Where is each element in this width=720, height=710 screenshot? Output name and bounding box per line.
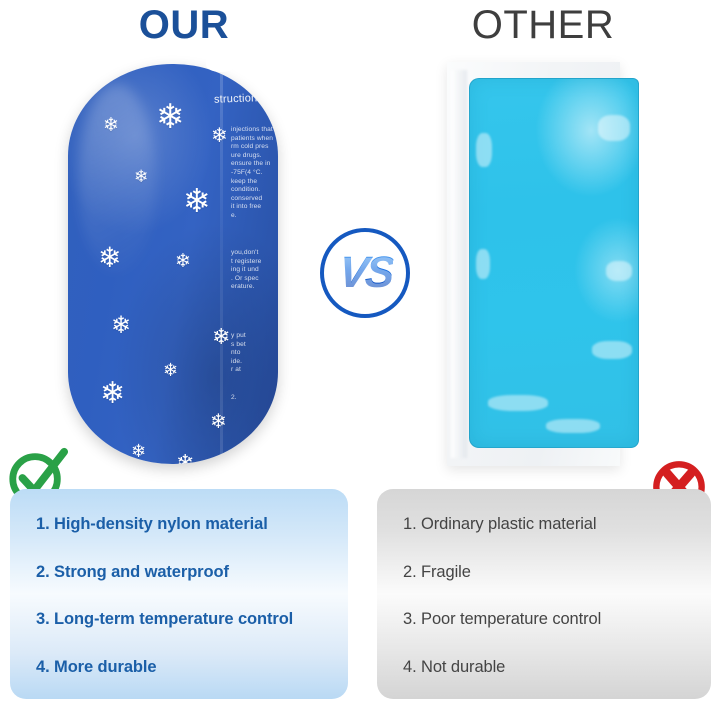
pack-instruction-line: injections that <box>231 126 278 135</box>
snowflake-icon: ❄ <box>175 252 191 271</box>
feature-item: 3. Poor temperature control <box>403 610 711 629</box>
pack-instruction-line: . Or spec <box>231 275 278 284</box>
pack-instruction-block: injections thatpatients whenrm cold pres… <box>231 126 278 221</box>
vs-badge: VS <box>320 228 410 318</box>
pack-instruction-line: s bet <box>231 341 278 350</box>
feature-item: 1. Ordinary plastic material <box>403 515 711 534</box>
snowflake-icon: ❄ <box>131 442 146 460</box>
snowflake-icon: ❄ <box>212 326 230 348</box>
page-title-other: OTHER <box>418 2 668 48</box>
vs-label: VS <box>336 251 393 295</box>
snowflake-icon: ❄ <box>156 100 185 134</box>
pack-instruction-line: e. <box>231 212 278 221</box>
gel-crease <box>546 419 600 433</box>
snowflake-icon: ❄ <box>183 184 211 217</box>
pack-instruction-block: y puts betntoide.r at <box>231 332 278 375</box>
snowflake-icon: ❄ <box>176 452 194 464</box>
pack-instruction-line: r at <box>231 366 278 375</box>
pack-instruction-line: it into free <box>231 203 278 212</box>
pack-instruction-line: ing it und <box>231 266 278 275</box>
feature-list-other: 1. Ordinary plastic material 2. Fragile … <box>377 489 711 699</box>
feature-item: 2. Strong and waterproof <box>36 563 348 582</box>
snowflake-icon: ❄ <box>103 116 119 135</box>
pack-instruction-line: condition. <box>231 186 278 195</box>
snowflake-icon: ❄ <box>211 126 228 146</box>
pack-instruction-block: 2. <box>231 394 278 403</box>
gel-crease <box>598 115 630 141</box>
pack-instruction-line: ide. <box>231 358 278 367</box>
pack-instruction-line: nto <box>231 349 278 358</box>
snowflake-icon: ❄ <box>210 412 227 432</box>
product-image-other <box>447 62 620 466</box>
feature-item: 4. More durable <box>36 658 348 677</box>
pack-instruction-line: keep the <box>231 178 278 187</box>
snowflake-icon: ❄ <box>111 314 131 338</box>
feature-item: 3. Long-term temperature control <box>36 610 348 629</box>
pack-instruction-line: ensure the in <box>231 160 278 169</box>
gel-crease <box>476 249 490 279</box>
gel-crease <box>488 395 548 411</box>
pack-instruction-line: 2. <box>231 394 278 403</box>
pack-instruction-line: you,don't <box>231 249 278 258</box>
snowflake-icon: ❄ <box>163 361 178 379</box>
snowflake-icon: ❄ <box>134 168 148 185</box>
feature-list-ours: 1. High-density nylon material 2. Strong… <box>10 489 348 699</box>
feature-item: 1. High-density nylon material <box>36 515 348 534</box>
feature-item: 2. Fragile <box>403 563 711 582</box>
product-image-ours: struction injections thatpatients whenrm… <box>68 64 278 464</box>
pack-instruction-line: conserved <box>231 195 278 204</box>
gel-crease <box>476 133 492 167</box>
pack-instruction-line: rm cold pres <box>231 143 278 152</box>
pack-instruction-line: t registere <box>231 258 278 267</box>
pack-instruction-line: patients when <box>231 135 278 144</box>
pack-instruction-line: y put <box>231 332 278 341</box>
snowflake-icon: ❄ <box>98 244 121 272</box>
pack-instruction-line: -75F(4 °C. <box>231 169 278 178</box>
pack-seam <box>220 64 223 464</box>
page-title-ours: OUR <box>58 2 310 48</box>
pack-top-notch <box>206 58 236 72</box>
snowflake-icon: ❄ <box>100 379 125 409</box>
pack-printed-title: struction <box>214 93 258 106</box>
product-comparison-stage: struction injections thatpatients whenrm… <box>0 50 720 480</box>
bag-highlight <box>451 70 467 458</box>
pack-instruction-line: ure drugs. <box>231 152 278 161</box>
pack-instruction-block: you,don'tt registereing it und. Or spece… <box>231 249 278 292</box>
gel-fill <box>469 78 639 448</box>
gel-crease <box>606 261 632 281</box>
feature-item: 4. Not durable <box>403 658 711 677</box>
gel-crease <box>592 341 632 359</box>
pack-instruction-line: erature. <box>231 283 278 292</box>
